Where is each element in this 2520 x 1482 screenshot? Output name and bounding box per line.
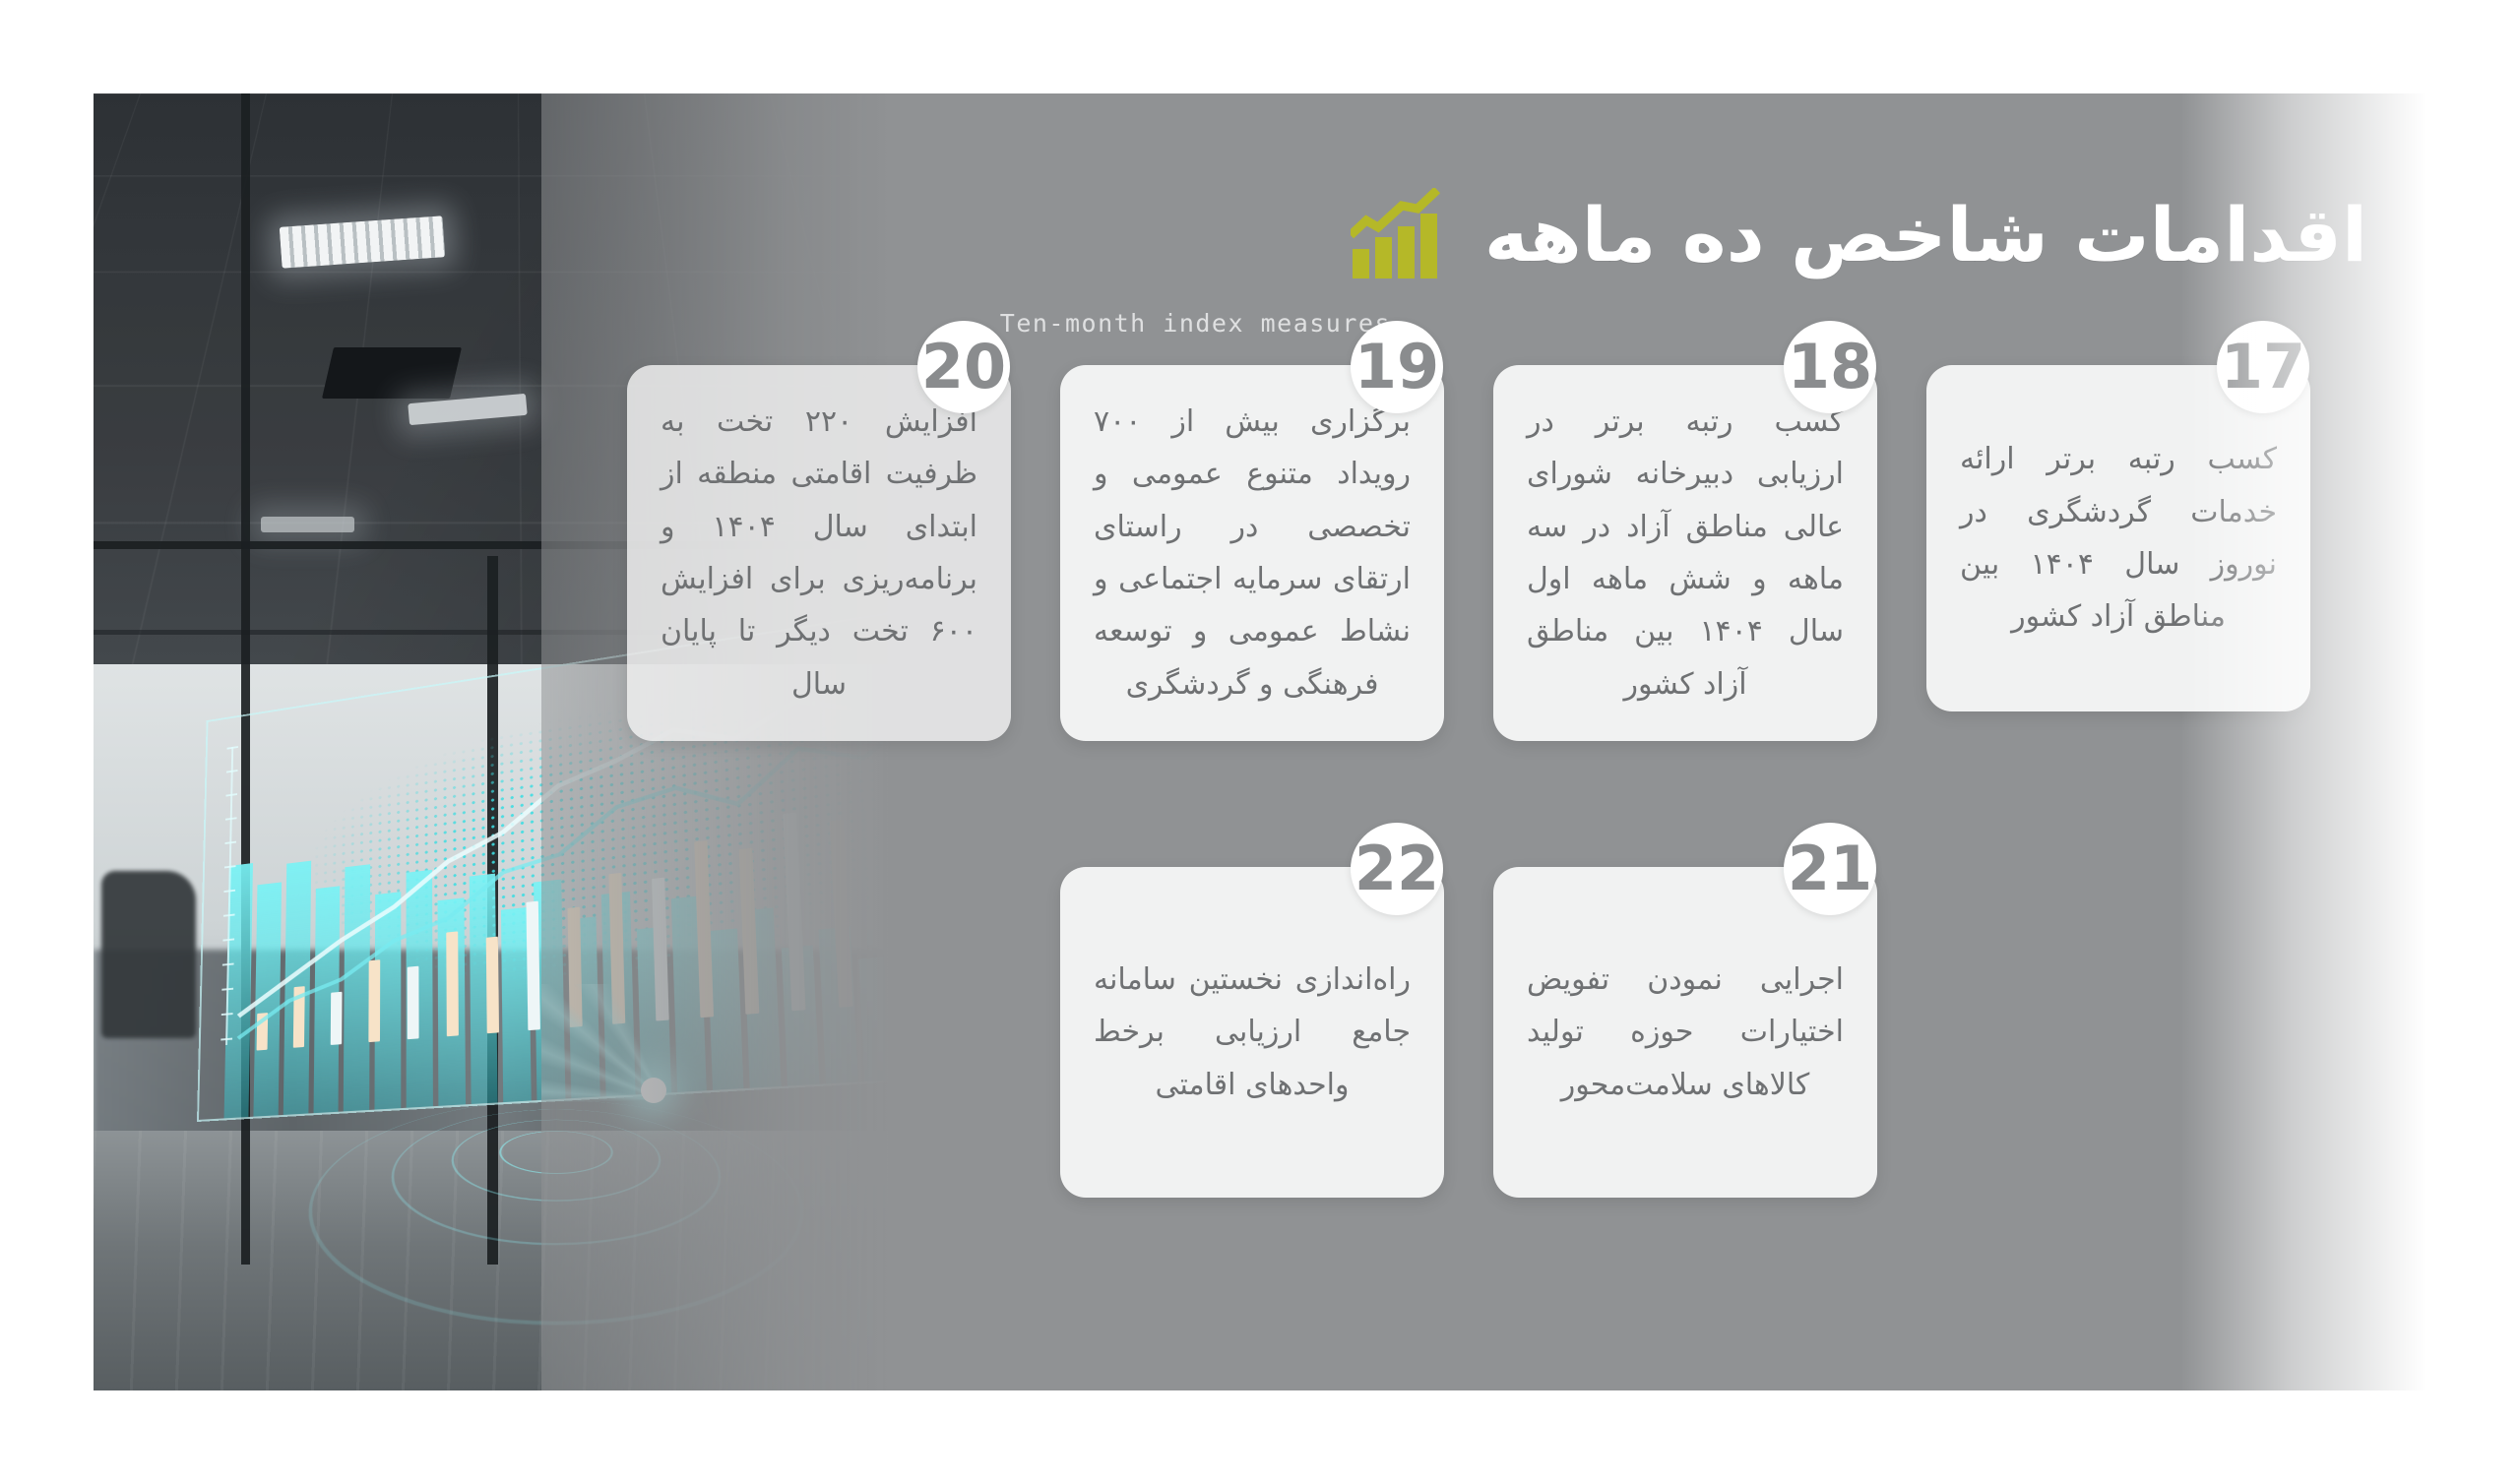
measure-card-21[interactable]: اجرایی نمودن تفویض اختیارات حوزه تولید ک… — [1493, 867, 1877, 1198]
measure-card-text: برگزاری بیش از ۷۰۰ رویداد متنوع عمومی و … — [1060, 396, 1444, 710]
photo-ceiling-lamp — [261, 517, 354, 532]
measure-badge-20: 20 — [917, 321, 1010, 413]
measure-card-text: راه‌اندازی نخستین سامانه جامع ارزیابی بر… — [1060, 954, 1444, 1111]
measure-card-22[interactable]: راه‌اندازی نخستین سامانه جامع ارزیابی بر… — [1060, 867, 1444, 1198]
right-edge-fade — [2180, 93, 2426, 1390]
measure-card-19[interactable]: برگزاری بیش از ۷۰۰ رویداد متنوع عمومی و … — [1060, 365, 1444, 741]
photo-ceiling-vent — [322, 347, 462, 399]
photo-office-chair — [101, 871, 196, 1038]
hologram-axis — [225, 747, 233, 1044]
measure-card-text: کسب رتبه برتر در ارزیابی دبیرخانه شورای … — [1493, 396, 1877, 710]
office-hologram-photo — [94, 93, 891, 1390]
measure-card-text: افزایش ۲۲۰ تخت به ظرفیت اقامتی منطقه از … — [627, 396, 1011, 710]
measure-badge-19: 19 — [1351, 321, 1443, 413]
measure-badge-18: 18 — [1784, 321, 1876, 413]
measure-badge-22: 22 — [1351, 823, 1443, 915]
measure-badge-21: 21 — [1784, 823, 1876, 915]
measure-card-text: اجرایی نمودن تفویض اختیارات حوزه تولید ک… — [1493, 954, 1877, 1111]
slide-canvas: اقدامات شاخص ده ماهه Ten-month index mea… — [94, 93, 2426, 1390]
page-subtitle: Ten-month index measures — [1000, 309, 1391, 338]
photo-grey-overlay — [541, 93, 891, 1390]
measure-card-20[interactable]: افزایش ۲۲۰ تخت به ظرفیت اقامتی منطقه از … — [627, 365, 1011, 741]
bar-chart-growth-icon — [1351, 188, 1459, 282]
measure-card-18[interactable]: کسب رتبه برتر در ارزیابی دبیرخانه شورای … — [1493, 365, 1877, 741]
